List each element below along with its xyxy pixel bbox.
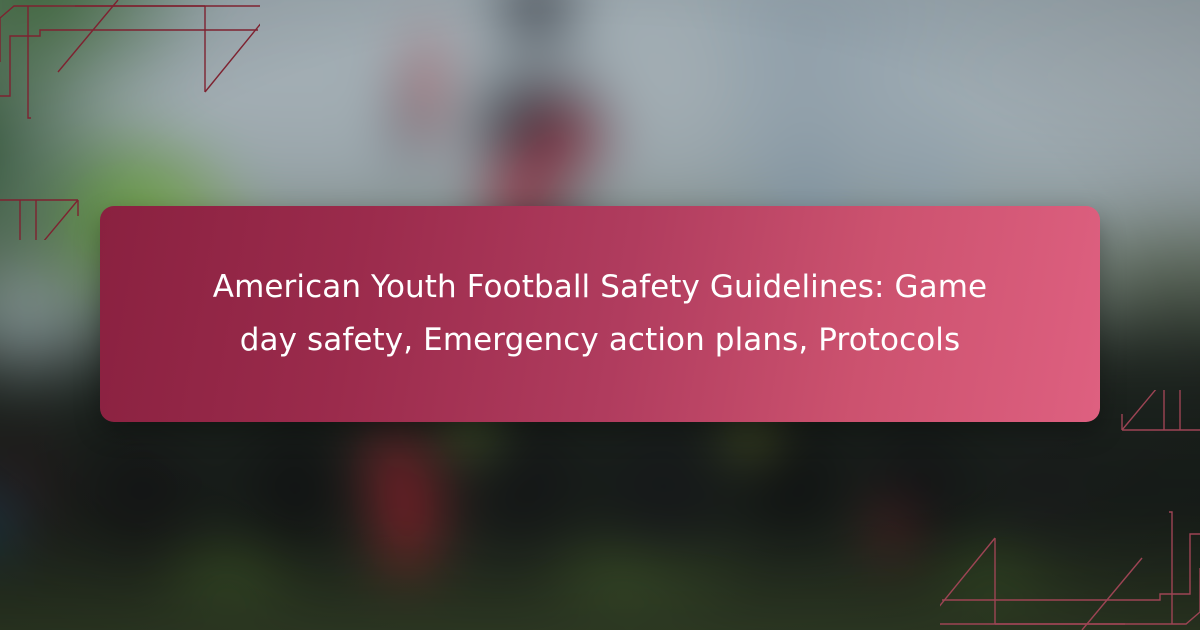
social-card-canvas: American Youth Football Safety Guideline… bbox=[0, 0, 1200, 630]
page-title: American Youth Football Safety Guideline… bbox=[200, 261, 1000, 367]
title-card: American Youth Football Safety Guideline… bbox=[100, 206, 1100, 422]
